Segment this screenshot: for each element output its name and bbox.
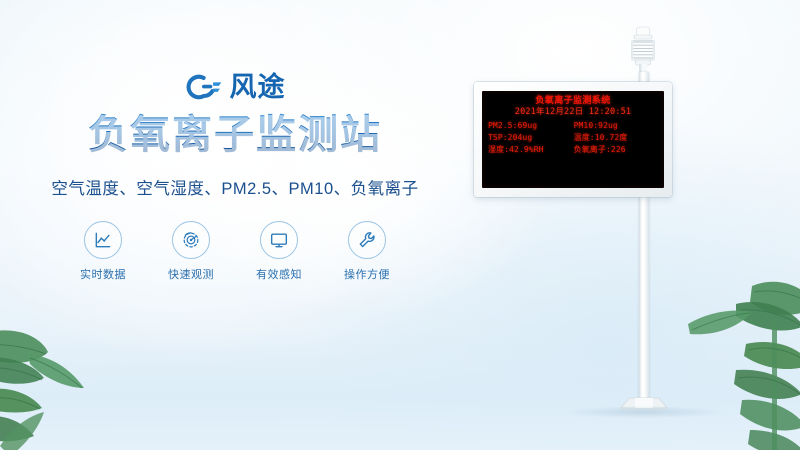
- station-ground-shadow: [564, 406, 724, 418]
- wrench-icon: [348, 221, 386, 259]
- poster-canvas: 风途 负氧离子监测站 空气温度、空气湿度、PM2.5、PM10、负氧离子 实时数…: [0, 0, 800, 450]
- monitor-screen-icon: [260, 221, 298, 259]
- led-reading-humidity: 湿度:42.9%RH: [488, 144, 570, 155]
- led-reading-pm25: PM2.5:69ug: [488, 120, 570, 131]
- feature-item-fast-observation[interactable]: 快速观测: [160, 221, 222, 282]
- led-screen: 负氧离子监测系统 2021年12月22日 12:20:51 PM2.5:69ug…: [482, 91, 664, 188]
- led-reading-negative-ions: 负氧离子:226: [570, 144, 658, 155]
- led-reading-tsp: TSP:204ug: [488, 132, 570, 143]
- led-reading-pm10: PM10:92ug: [570, 120, 658, 131]
- led-readings-grid: PM2.5:69ug PM10:92ug TSP:204ug 温度:10.72度…: [488, 120, 658, 155]
- feature-list: 实时数据 快速观测: [72, 221, 398, 282]
- promo-column: 风途 负氧离子监测站 空气温度、空气湿度、PM2.5、PM10、负氧离子 实时数…: [0, 70, 470, 282]
- radar-scan-icon: [172, 221, 210, 259]
- led-display-panel: 负氧离子监测系统 2021年12月22日 12:20:51 PM2.5:69ug…: [474, 82, 672, 197]
- brand-name: 风途: [230, 72, 286, 102]
- feature-item-realtime-data[interactable]: 实时数据: [72, 221, 134, 282]
- led-display-datetime: 2021年12月22日 12:20:51: [488, 107, 658, 118]
- feature-label: 操作方便: [344, 266, 390, 282]
- feature-label: 快速观测: [168, 266, 214, 282]
- led-display-title: 负氧离子监测系统: [488, 96, 658, 107]
- feature-label: 实时数据: [80, 266, 126, 282]
- line-chart-icon: [84, 221, 122, 259]
- feature-item-effective-sensing[interactable]: 有效感知: [248, 221, 310, 282]
- feature-label: 有效感知: [256, 266, 302, 282]
- page-subtitle: 空气温度、空气湿度、PM2.5、PM10、负氧离子: [51, 175, 418, 199]
- gf-monogram-icon: [185, 72, 223, 102]
- page-title: 负氧离子监测站: [88, 113, 382, 158]
- brand-logo: 风途: [185, 70, 286, 104]
- tropical-leaf-icon: [0, 296, 136, 450]
- monitoring-station: 负氧离子监测系统 2021年12月22日 12:20:51 PM2.5:69ug…: [470, 0, 800, 450]
- led-reading-temperature: 温度:10.72度: [570, 132, 658, 143]
- feature-item-easy-operation[interactable]: 操作方便: [336, 221, 398, 282]
